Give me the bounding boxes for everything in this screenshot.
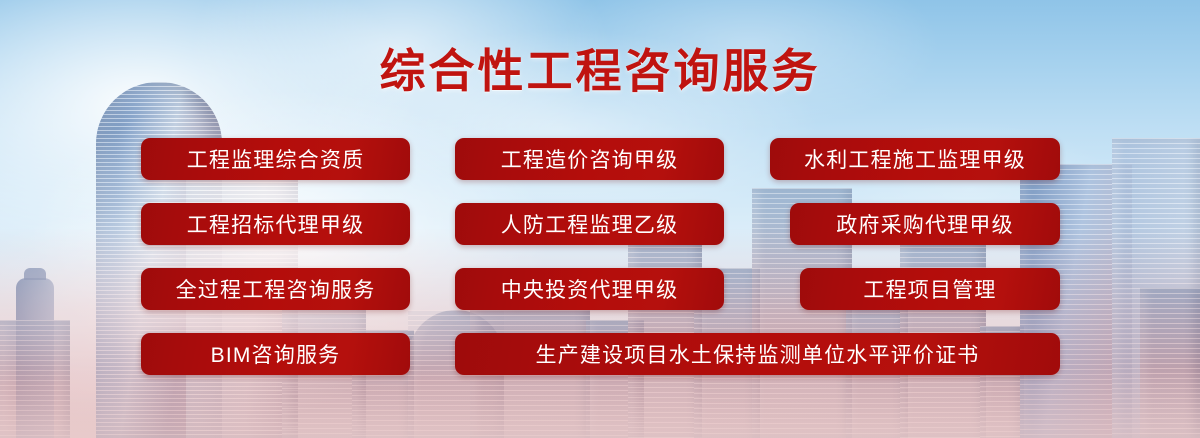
page-title-text: 综合性工程咨询服务 — [380, 48, 821, 94]
qualification-badge[interactable]: BIM咨询服务 — [141, 333, 410, 375]
badge-row: 工程监理综合资质 工程造价咨询甲级 水利工程施工监理甲级 — [0, 138, 1200, 180]
badge-row: 工程招标代理甲级 人防工程监理乙级 政府采购代理甲级 — [0, 203, 1200, 245]
qualification-badge[interactable]: 工程监理综合资质 — [141, 138, 410, 180]
qualification-badge-grid: 工程监理综合资质 工程造价咨询甲级 水利工程施工监理甲级 工程招标代理甲级 人防… — [0, 138, 1200, 398]
qualification-badge[interactable]: 工程项目管理 — [800, 268, 1060, 310]
qualification-badge[interactable]: 生产建设项目水土保持监测单位水平评价证书 — [455, 333, 1060, 375]
qualification-badge[interactable]: 全过程工程咨询服务 — [141, 268, 410, 310]
qualification-badge[interactable]: 工程造价咨询甲级 — [455, 138, 724, 180]
qualification-badge[interactable]: 水利工程施工监理甲级 — [770, 138, 1060, 180]
qualification-badge[interactable]: 工程招标代理甲级 — [141, 203, 410, 245]
promo-banner: 综合性工程咨询服务 工程监理综合资质 工程造价咨询甲级 水利工程施工监理甲级 工… — [0, 0, 1200, 438]
badge-row: BIM咨询服务 生产建设项目水土保持监测单位水平评价证书 — [0, 333, 1200, 375]
badge-row: 全过程工程咨询服务 中央投资代理甲级 工程项目管理 — [0, 268, 1200, 310]
qualification-badge[interactable]: 人防工程监理乙级 — [455, 203, 724, 245]
page-title: 综合性工程咨询服务 — [0, 48, 1200, 94]
qualification-badge[interactable]: 政府采购代理甲级 — [790, 203, 1060, 245]
qualification-badge[interactable]: 中央投资代理甲级 — [455, 268, 724, 310]
